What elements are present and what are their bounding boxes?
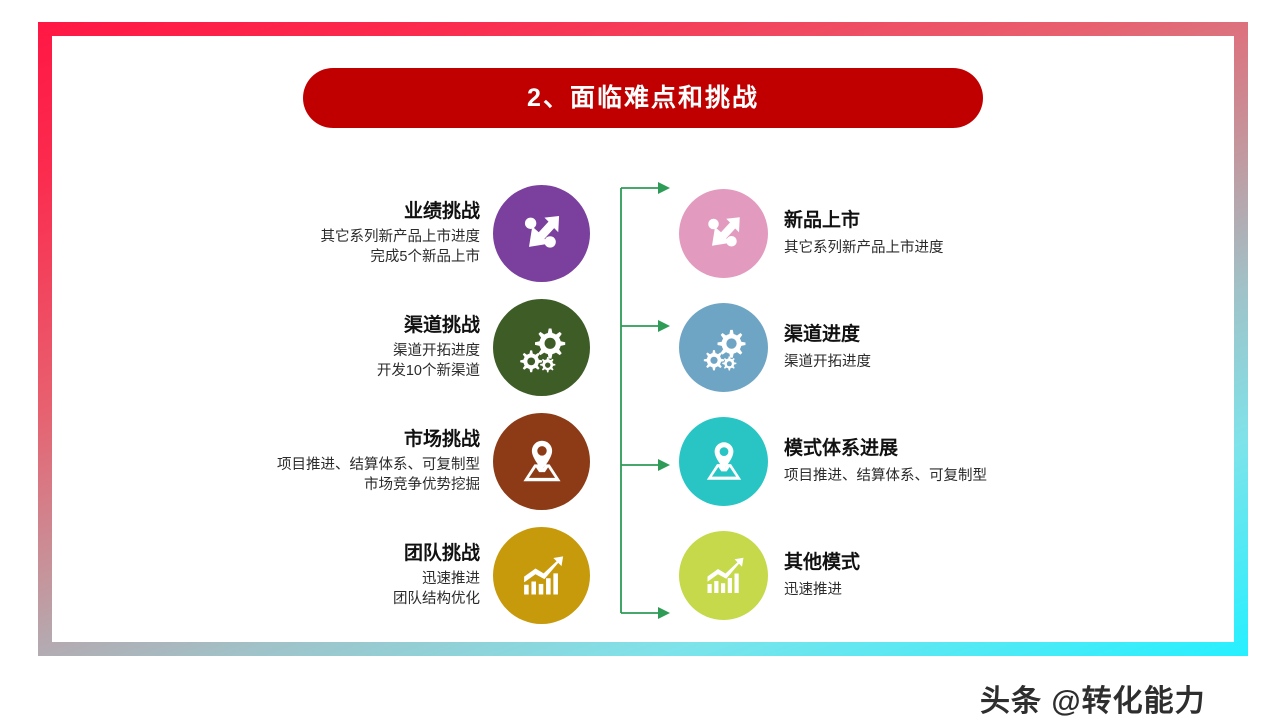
progress-item-3-text: 模式体系进展 项目推进、结算体系、可复制型 (768, 435, 987, 487)
challenge-item-1[interactable]: 业绩挑战 其它系列新产品上市进度 完成5个新品上市 (180, 176, 590, 290)
gears-icon (679, 303, 768, 392)
page-title: 2、面临难点和挑战 (527, 86, 759, 111)
progress-item-1-line1: 其它系列新产品上市进度 (784, 238, 944, 259)
progress-item-4[interactable]: 其他模式 迅速推进 (679, 518, 1109, 632)
bar-chart-arrow-icon (493, 527, 590, 624)
challenge-item-1-text: 业绩挑战 其它系列新产品上市进度 完成5个新品上市 (321, 199, 494, 268)
progress-item-1-text: 新品上市 其它系列新产品上市进度 (768, 207, 944, 259)
progress-item-3-title: 模式体系进展 (784, 435, 987, 463)
challenge-item-3-line1: 项目推进、结算体系、可复制型 (277, 456, 480, 476)
progress-item-4-text: 其他模式 迅速推进 (768, 549, 860, 601)
challenge-item-3-line2: 市场竞争优势挖掘 (277, 476, 480, 496)
challenge-item-4-title: 团队挑战 (393, 541, 480, 567)
challenge-item-4-line2: 团队结构优化 (393, 590, 480, 610)
progress-column: 新品上市 其它系列新产品上市进度 渠道进度 (679, 176, 1109, 632)
challenge-item-4-line1: 迅速推进 (393, 570, 480, 590)
challenge-item-2-line2: 开发10个新渠道 (377, 362, 480, 382)
progress-item-1-title: 新品上市 (784, 207, 944, 235)
challenge-item-3-title: 市场挑战 (277, 427, 480, 453)
challenge-item-4[interactable]: 团队挑战 迅速推进 团队结构优化 (180, 518, 590, 632)
challenge-item-1-line1: 其它系列新产品上市进度 (321, 228, 481, 248)
challenge-item-3-text: 市场挑战 项目推进、结算体系、可复制型 市场竞争优势挖掘 (277, 427, 493, 496)
challenges-column: 业绩挑战 其它系列新产品上市进度 完成5个新品上市 渠道挑战 渠道开拓进度 开发… (180, 176, 590, 632)
challenge-item-2-text: 渠道挑战 渠道开拓进度 开发10个新渠道 (377, 313, 493, 382)
progress-item-2-line1: 渠道开拓进度 (784, 352, 871, 373)
progress-item-2-text: 渠道进度 渠道开拓进度 (768, 321, 871, 373)
progress-item-4-line1: 迅速推进 (784, 580, 860, 601)
challenge-item-3[interactable]: 市场挑战 项目推进、结算体系、可复制型 市场竞争优势挖掘 (180, 404, 590, 518)
gears-icon (493, 299, 590, 396)
map-pin-icon (679, 417, 768, 506)
growth-arrow-icon (493, 185, 590, 282)
challenge-item-2-line1: 渠道开拓进度 (377, 342, 480, 362)
slide-title-pill: 2、面临难点和挑战 (303, 68, 983, 128)
challenge-item-2[interactable]: 渠道挑战 渠道开拓进度 开发10个新渠道 (180, 290, 590, 404)
slide-canvas: 2、面临难点和挑战 业绩挑战 其它系列新产品上市进度 完成5个新品上市 (0, 0, 1280, 720)
map-pin-icon (493, 413, 590, 510)
growth-arrow-icon (679, 189, 768, 278)
challenge-item-1-line2: 完成5个新品上市 (321, 248, 481, 268)
progress-item-2[interactable]: 渠道进度 渠道开拓进度 (679, 290, 1109, 404)
progress-item-1[interactable]: 新品上市 其它系列新产品上市进度 (679, 176, 1109, 290)
challenge-item-1-title: 业绩挑战 (321, 199, 481, 225)
progress-item-3[interactable]: 模式体系进展 项目推进、结算体系、可复制型 (679, 404, 1109, 518)
challenge-item-2-title: 渠道挑战 (377, 313, 480, 339)
watermark-text: 头条 @转化能力 (980, 676, 1206, 720)
progress-item-2-title: 渠道进度 (784, 321, 871, 349)
bar-chart-arrow-icon (679, 531, 768, 620)
progress-item-4-title: 其他模式 (784, 549, 860, 577)
challenge-item-4-text: 团队挑战 迅速推进 团队结构优化 (393, 541, 493, 610)
progress-item-3-line1: 项目推进、结算体系、可复制型 (784, 466, 987, 487)
